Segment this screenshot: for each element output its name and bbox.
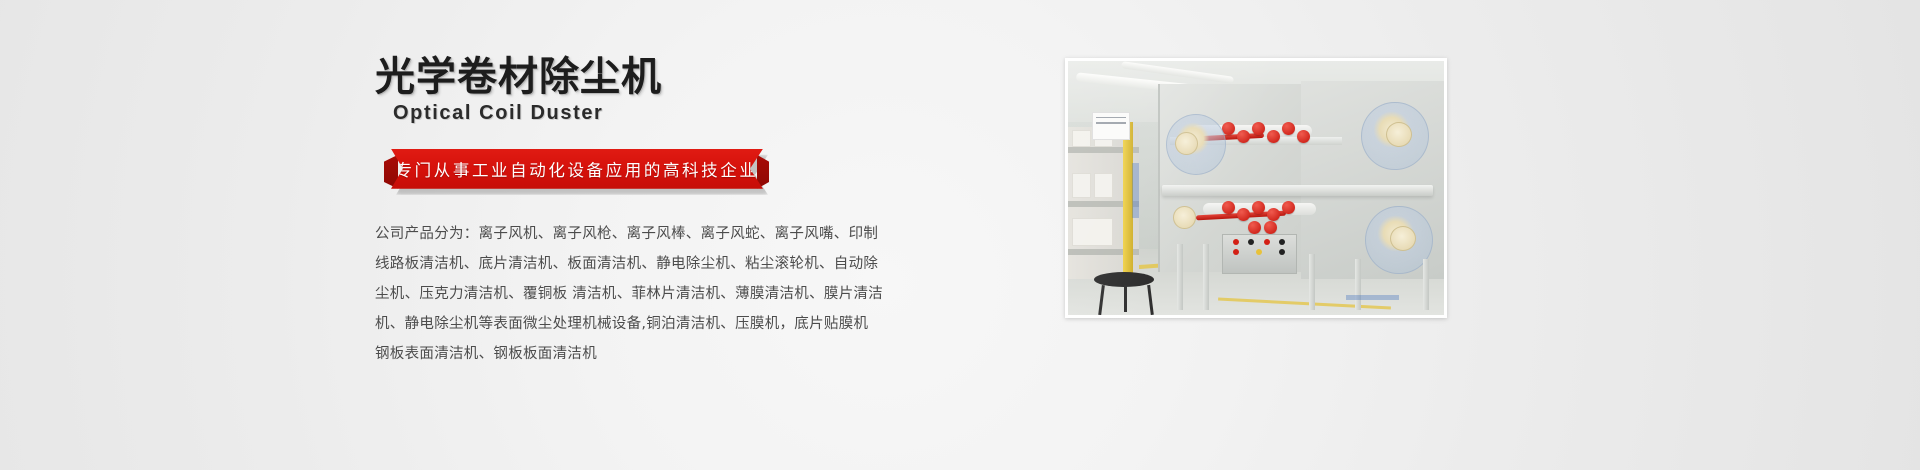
photo-stock-box <box>1072 173 1091 198</box>
photo-wall-sign <box>1092 112 1130 140</box>
photo-control-button-icon <box>1256 249 1262 255</box>
photo-stock-box <box>1072 218 1113 246</box>
description-line: 公司产品分为：离子风机、离子风枪、离子风棒、离子风蛇、离子风嘴、印制 <box>375 219 845 249</box>
photo-knob-icon <box>1297 130 1310 143</box>
photo-frame-leg <box>1203 244 1209 310</box>
photo-control-button-icon <box>1264 239 1270 245</box>
hero-text-column: 光学卷材除尘机 Optical Coil Duster 专门从事工业自动化设备应… <box>375 55 995 369</box>
product-photo-frame <box>1065 58 1447 318</box>
ribbon-body: 专门从事工业自动化设备应用的高科技企业 <box>391 149 763 189</box>
tagline-text: 专门从事工业自动化设备应用的高科技企业 <box>396 157 759 181</box>
photo-blue-strap <box>1346 295 1399 300</box>
description-line: 尘机、压克力清洁机、覆铜板 清洁机、菲林片清洁机、薄膜清洁机、膜片清洁 <box>375 279 845 309</box>
page-title-chinese: 光学卷材除尘机 <box>375 55 995 100</box>
photo-frame-leg <box>1177 244 1183 310</box>
product-photo <box>1068 61 1444 315</box>
photo-knob-icon <box>1237 130 1250 143</box>
title-block: 光学卷材除尘机 Optical Coil Duster <box>375 55 995 125</box>
photo-control-button-icon <box>1279 239 1285 245</box>
photo-frame-leg <box>1355 259 1361 310</box>
photo-blue-strap <box>1132 163 1140 219</box>
description-line: 线路板清洁机、底片清洁机、板面清洁机、静电除尘机、粘尘滚轮机、自动除 <box>375 249 845 279</box>
description-line: 钢板表面清洁机、钢板板面清洁机 <box>375 339 845 369</box>
tagline-ribbon: 专门从事工业自动化设备应用的高科技企业 <box>391 149 763 189</box>
photo-stock-box <box>1072 130 1091 148</box>
photo-stool-leg <box>1124 285 1127 313</box>
photo-frame-leg <box>1309 254 1315 310</box>
description-line: 机、静电除尘机等表面微尘处理机械设备,铜泊清洁机、压膜机，底片贴膜机 <box>375 309 845 339</box>
photo-knob-icon <box>1252 201 1265 214</box>
photo-reel-core <box>1175 132 1198 155</box>
photo-stock-box <box>1094 173 1113 198</box>
photo-knob-icon <box>1267 130 1280 143</box>
hero-banner: 光学卷材除尘机 Optical Coil Duster 专门从事工业自动化设备应… <box>0 0 1920 470</box>
photo-control-button-icon <box>1279 249 1285 255</box>
photo-knob-icon <box>1282 201 1295 214</box>
page-title-english: Optical Coil Duster <box>393 102 995 125</box>
product-description: 公司产品分为：离子风机、离子风枪、离子风棒、离子风蛇、离子风嘴、印制 线路板清洁… <box>375 219 845 369</box>
photo-machine-crossbeam <box>1162 185 1433 196</box>
photo-reel-core <box>1173 206 1196 229</box>
photo-knob-icon <box>1264 221 1277 234</box>
photo-frame-leg <box>1423 259 1429 310</box>
photo-knob-icon <box>1222 201 1235 214</box>
